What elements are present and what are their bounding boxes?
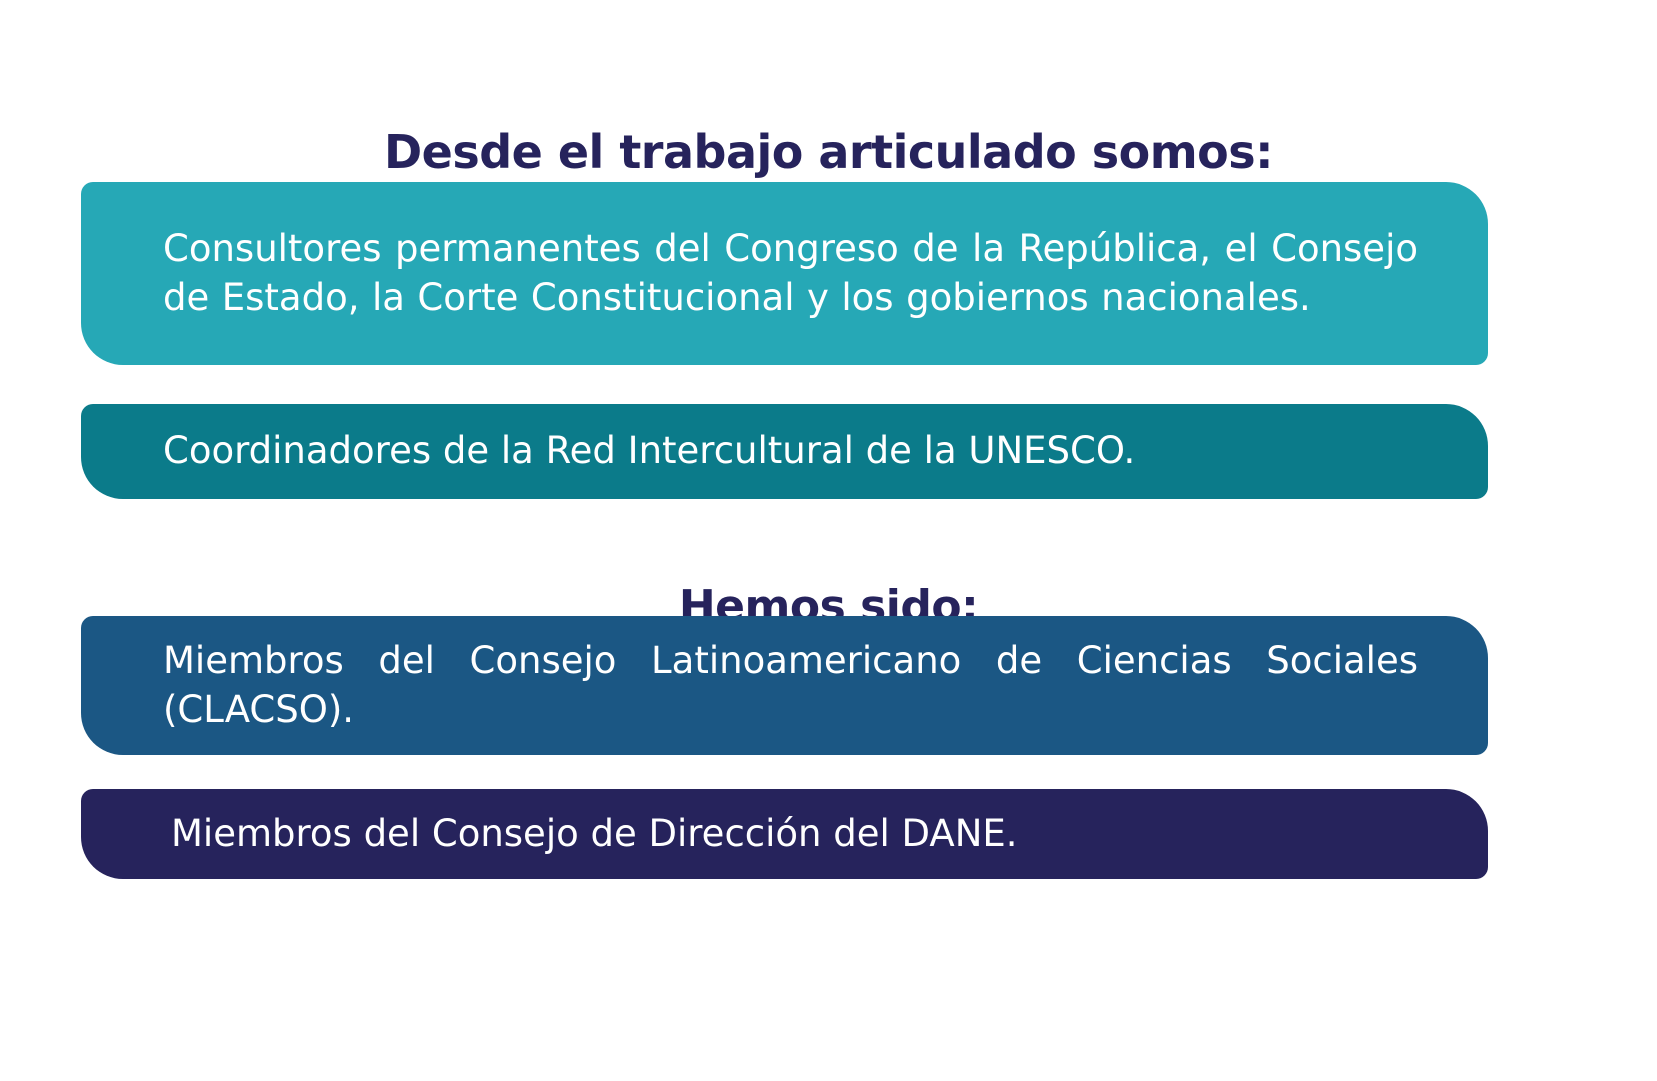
page-title: Desde el trabajo articulado somos: (0, 125, 1657, 179)
card-coordinadores-text: Coordinadores de la Red Intercultural de… (163, 427, 1418, 475)
card-dane-text: Miembros del Consejo de Dirección del DA… (171, 810, 1418, 858)
card-consultores-text: Consultores permanentes del Congreso de … (163, 225, 1418, 321)
card-coordinadores: Coordinadores de la Red Intercultural de… (81, 404, 1488, 499)
card-dane: Miembros del Consejo de Dirección del DA… (81, 789, 1488, 879)
card-clacso-text: Miembros del Consejo Latinoamericano de … (163, 637, 1418, 733)
slide-root: Desde el trabajo articulado somos: Consu… (0, 0, 1657, 1081)
card-consultores: Consultores permanentes del Congreso de … (81, 182, 1488, 365)
card-clacso: Miembros del Consejo Latinoamericano de … (81, 616, 1488, 755)
